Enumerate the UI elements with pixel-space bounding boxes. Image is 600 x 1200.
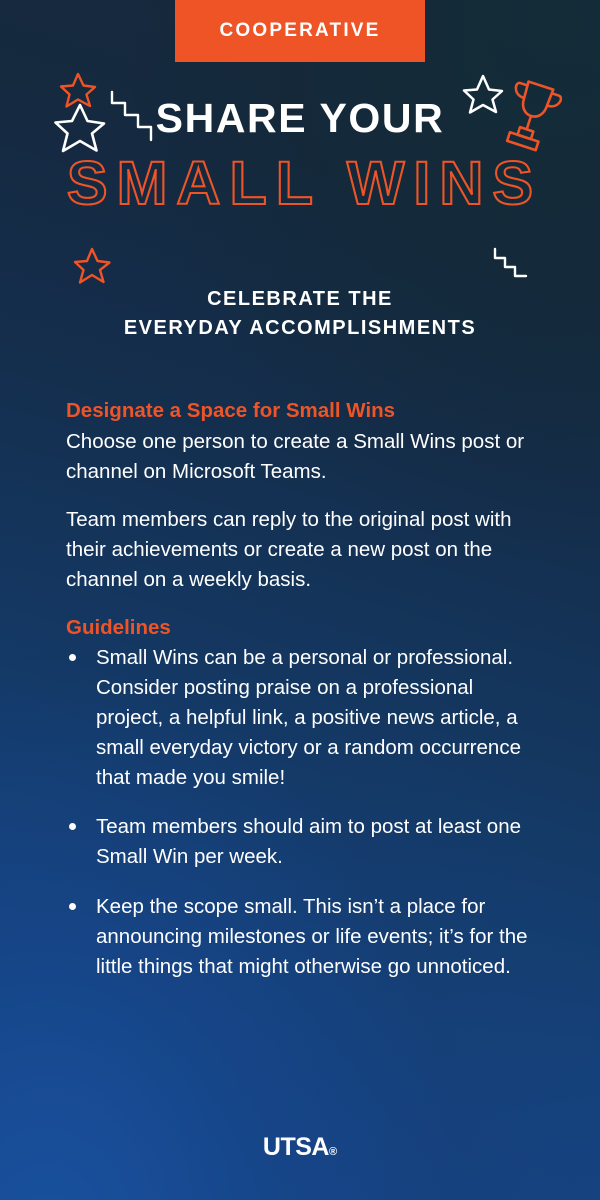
headline-line-2: SMALL WINS [0,151,600,215]
list-item: Keep the scope small. This isn’t a place… [66,892,544,982]
bullet-dot-icon [69,823,76,830]
poster-canvas: COOPERATIVE SHARE YOUR SMALL WINS CELEBR… [0,0,600,1200]
section-designate-space: Designate a Space for Small Wins Choose … [66,398,544,595]
utsa-logo: UTSA® [263,1133,337,1162]
guidelines-heading: Guidelines [66,615,544,641]
list-item-text: Keep the scope small. This isn’t a place… [96,895,528,978]
list-item-text: Small Wins can be a personal or professi… [96,646,521,789]
footer: UTSA® [0,1133,600,1162]
list-item: Small Wins can be a personal or professi… [66,643,544,793]
utsa-logo-text: UTSA [263,1133,329,1161]
subtitle-line-1: CELEBRATE THE [0,285,600,314]
star-orange-icon [72,245,112,290]
list-item-text: Team members should aim to post at least… [96,815,521,868]
subtitle-block: CELEBRATE THE EVERYDAY ACCOMPLISHMENTS [0,285,600,343]
section-paragraph: Team members can reply to the original p… [66,505,544,595]
category-badge: COOPERATIVE [175,0,425,62]
content-body: Designate a Space for Small Wins Choose … [66,398,544,982]
section-heading: Designate a Space for Small Wins [66,398,544,424]
list-item: Team members should aim to post at least… [66,812,544,872]
bullet-dot-icon [69,654,76,661]
category-badge-label: COOPERATIVE [219,20,380,42]
section-guidelines: Guidelines Small Wins can be a personal … [66,615,544,982]
bullet-dot-icon [69,903,76,910]
utsa-logo-mark: ® [329,1146,337,1158]
subtitle-line-2: EVERYDAY ACCOMPLISHMENTS [0,314,600,343]
section-paragraph: Choose one person to create a Small Wins… [66,427,544,487]
headline-block: SHARE YOUR SMALL WINS [0,98,600,215]
guidelines-list: Small Wins can be a personal or professi… [66,643,544,982]
headline-line-1: SHARE YOUR [0,98,600,139]
